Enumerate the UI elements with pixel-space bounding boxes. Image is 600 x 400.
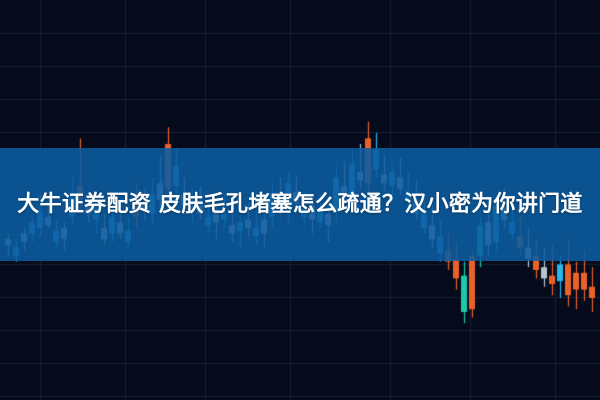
banner-image: 大牛证券配资 皮肤毛孔堵塞怎么疏通？汉小密为你讲门道 (0, 0, 600, 400)
headline-overlay-band: 大牛证券配资 皮肤毛孔堵塞怎么疏通？汉小密为你讲门道 (0, 148, 600, 261)
headline-title: 大牛证券配资 皮肤毛孔堵塞怎么疏通？汉小密为你讲门道 (14, 189, 586, 220)
